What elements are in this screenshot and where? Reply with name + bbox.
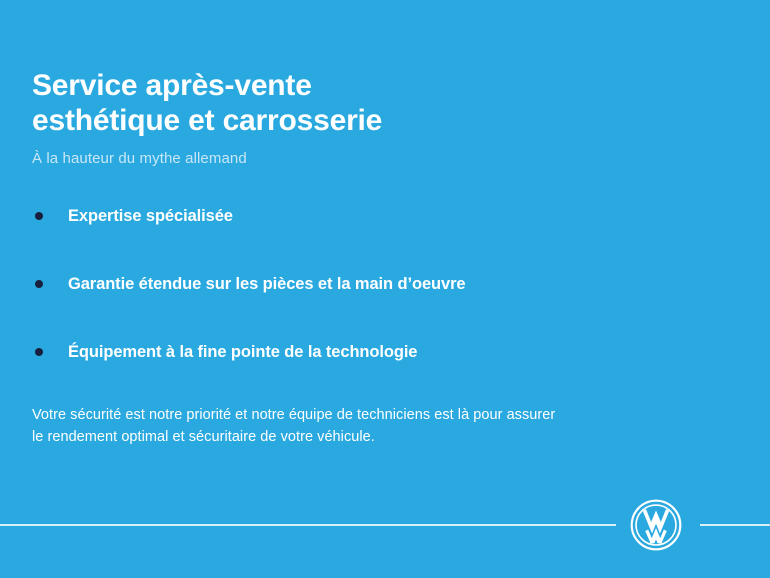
- bullet-dot-icon: [35, 348, 43, 356]
- list-item: Garantie étendue sur les pièces et la ma…: [32, 273, 722, 297]
- page-title: Service après-vente esthétique et carros…: [32, 68, 692, 138]
- list-item-label: Expertise spécialisée: [68, 205, 233, 227]
- page-title-line-1: Service après-vente: [32, 68, 692, 103]
- list-item-label: Garantie étendue sur les pièces et la ma…: [68, 273, 465, 295]
- list-item: Expertise spécialisée: [32, 205, 722, 229]
- list-item-label: Équipement à la fine pointe de la techno…: [68, 341, 417, 363]
- footer-divider-right: [700, 524, 770, 526]
- title-block: Service après-vente esthétique et carros…: [32, 68, 692, 168]
- list-item: Équipement à la fine pointe de la techno…: [32, 341, 722, 365]
- page-title-line-2: esthétique et carrosserie: [32, 103, 692, 138]
- page-subtitle: À la hauteur du mythe allemand: [32, 149, 692, 168]
- feature-bullet-list: Expertise spécialisée Garantie étendue s…: [32, 205, 722, 365]
- body-paragraph: Votre sécurité est notre priorité et not…: [32, 404, 682, 448]
- footer-divider-left: [0, 524, 616, 526]
- bullet-dot-icon: [35, 212, 43, 220]
- body-paragraph-line-1: Votre sécurité est notre priorité et not…: [32, 404, 682, 426]
- slide-canvas: Service après-vente esthétique et carros…: [0, 0, 770, 578]
- body-paragraph-line-2: le rendement optimal et sécuritaire de v…: [32, 426, 682, 448]
- volkswagen-logo-icon: [629, 498, 683, 552]
- bullet-dot-icon: [35, 280, 43, 288]
